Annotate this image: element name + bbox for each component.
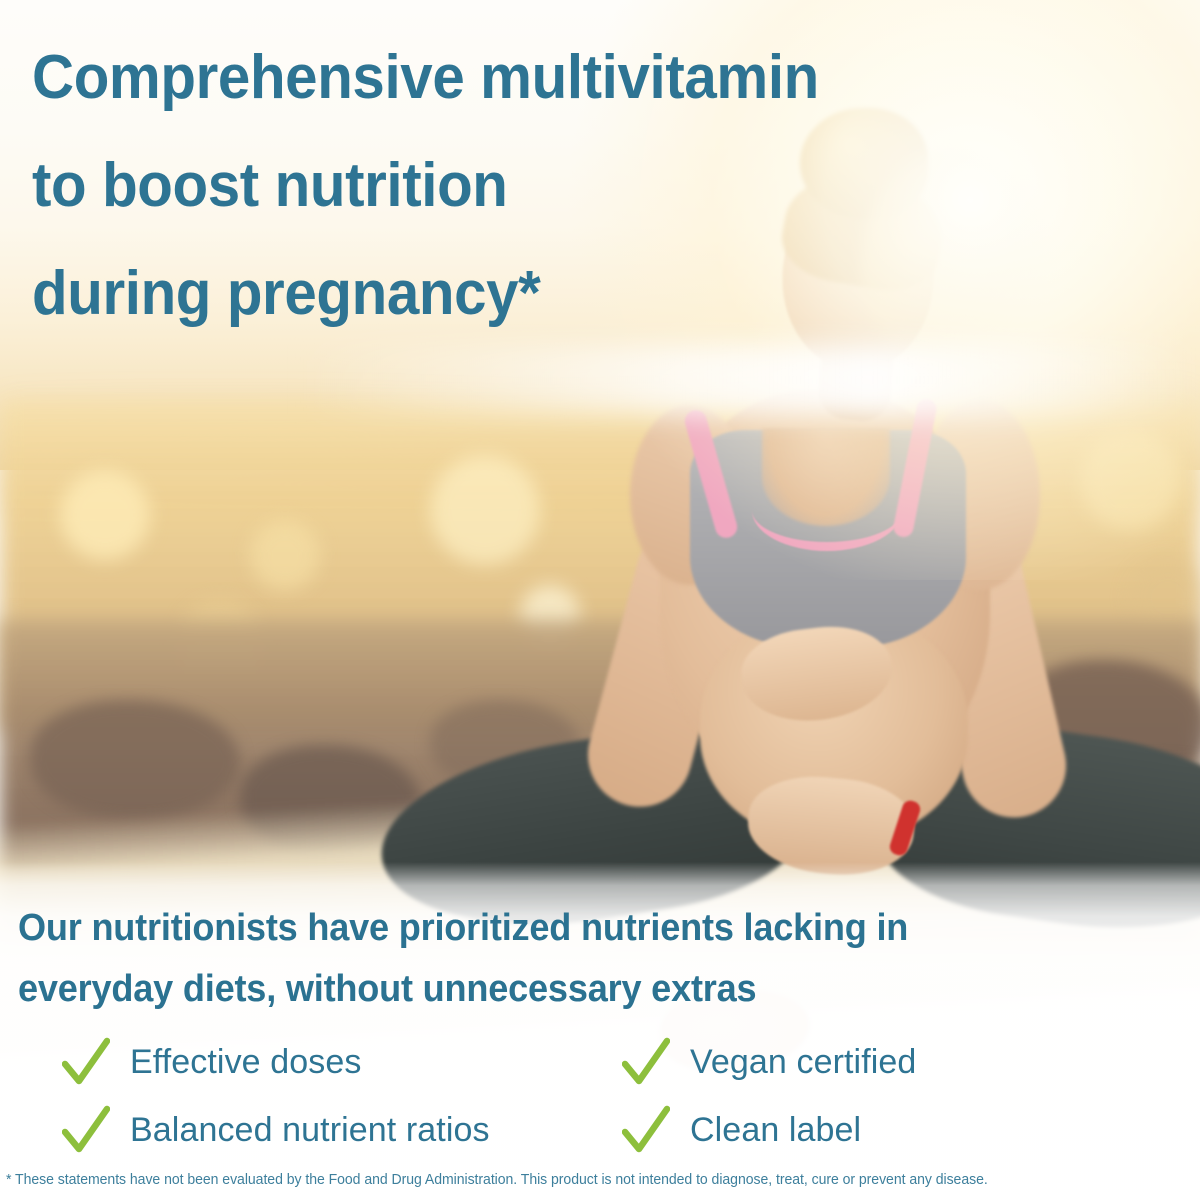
benefit-label: Clean label xyxy=(690,1111,861,1150)
check-icon xyxy=(622,1105,670,1155)
benefit-label: Effective doses xyxy=(130,1043,361,1082)
lens-flare xyxy=(300,345,1200,415)
subheading: Our nutritionists have prioritized nutri… xyxy=(18,898,1130,1020)
headline-line-3: during pregnancy* xyxy=(32,240,981,348)
list-item: Effective doses xyxy=(62,1037,622,1087)
subheading-line-2: everyday diets, without unnecessary extr… xyxy=(18,959,1130,1020)
subheading-line-1: Our nutritionists have prioritized nutri… xyxy=(18,898,1130,959)
benefit-label: Vegan certified xyxy=(690,1043,916,1082)
check-icon xyxy=(622,1037,670,1087)
list-item: Balanced nutrient ratios xyxy=(62,1105,622,1155)
headline: Comprehensive multivitamin to boost nutr… xyxy=(32,24,981,348)
benefit-label: Balanced nutrient ratios xyxy=(130,1111,490,1150)
check-icon xyxy=(62,1105,110,1155)
headline-line-2: to boost nutrition xyxy=(32,132,981,240)
list-item: Clean label xyxy=(622,1105,1162,1155)
marketing-banner: Comprehensive multivitamin to boost nutr… xyxy=(0,0,1200,1200)
disclaimer-text: * These statements have not been evaluat… xyxy=(6,1172,1160,1188)
check-icon xyxy=(62,1037,110,1087)
benefits-list: Effective doses Vegan certified Balanced… xyxy=(62,1028,1162,1164)
headline-line-1: Comprehensive multivitamin xyxy=(32,24,981,132)
list-item: Vegan certified xyxy=(622,1037,1162,1087)
